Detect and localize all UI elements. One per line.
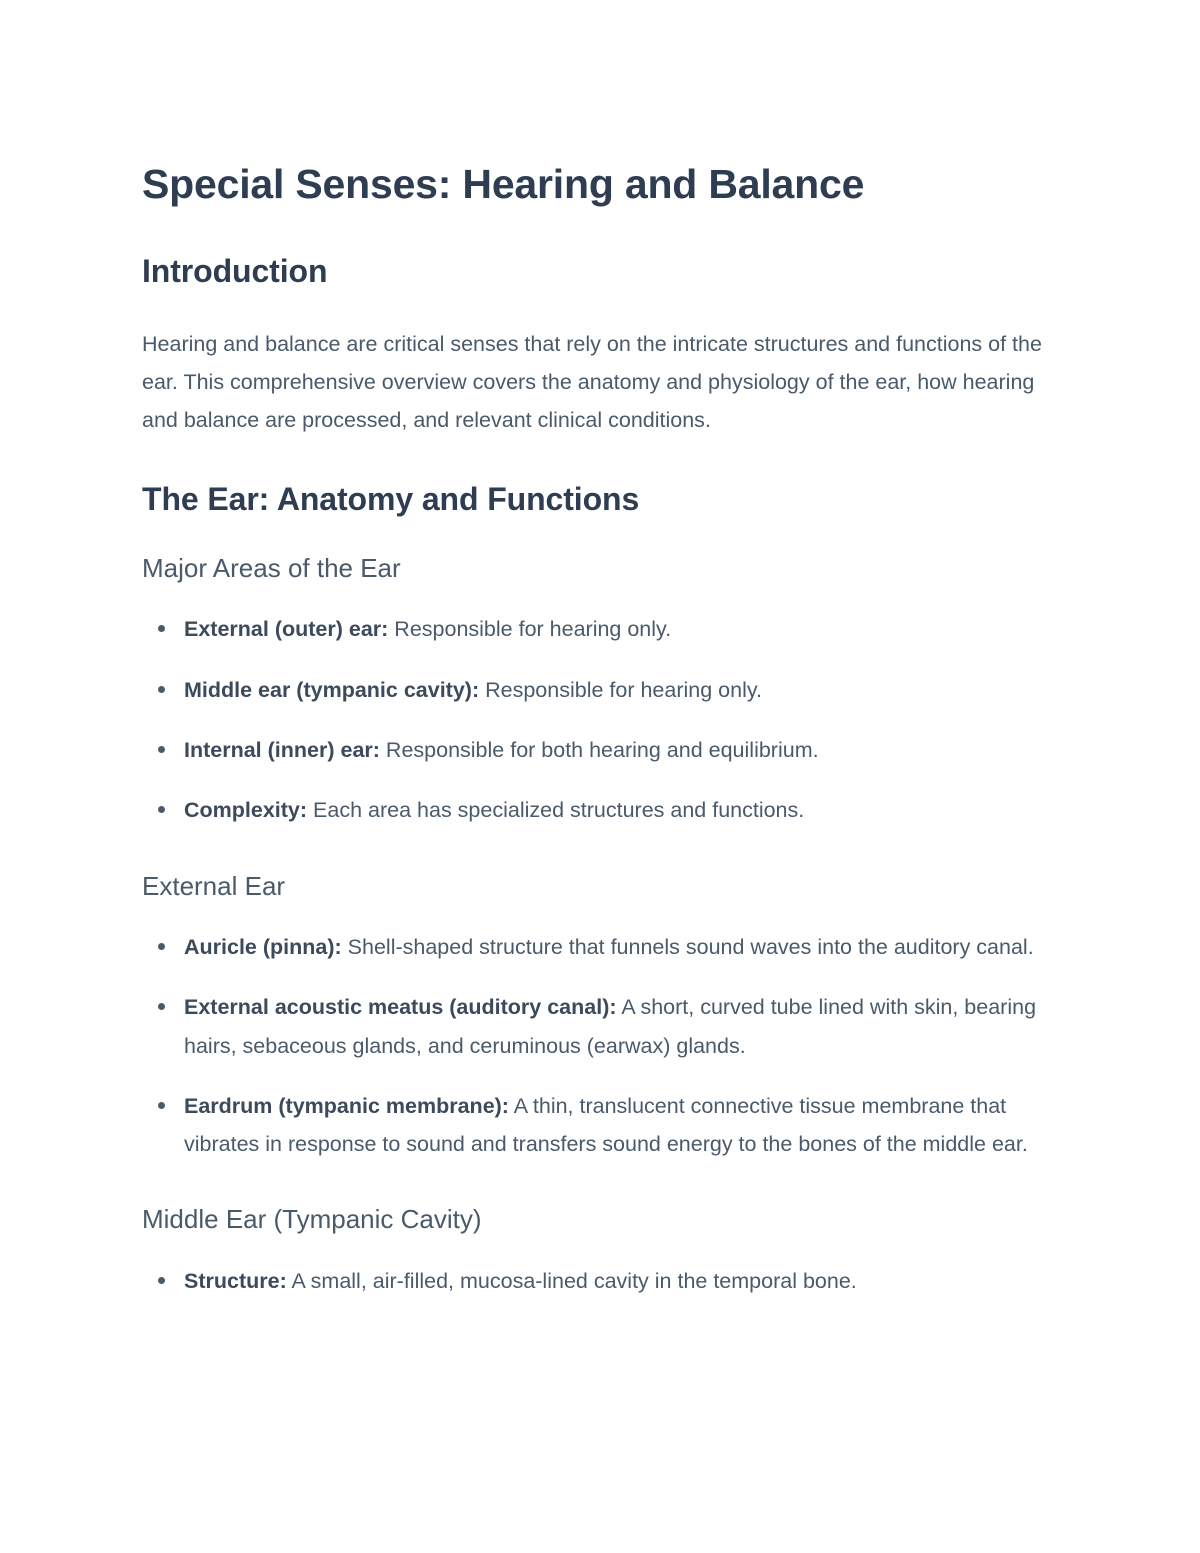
list-item-term: Middle ear (tympanic cavity): bbox=[184, 678, 479, 702]
list-item: Complexity: Each area has specialized st… bbox=[142, 791, 1058, 829]
list-item-term: External acoustic meatus (auditory canal… bbox=[184, 995, 617, 1019]
page-title: Special Senses: Hearing and Balance bbox=[142, 160, 1058, 208]
list-item: Structure: A small, air-filled, mucosa-l… bbox=[142, 1262, 1058, 1300]
list-item: Middle ear (tympanic cavity): Responsibl… bbox=[142, 671, 1058, 709]
external-ear-list: Auricle (pinna): Shell-shaped structure … bbox=[142, 928, 1058, 1163]
bullet-icon bbox=[158, 943, 165, 950]
subsection-heading-external-ear: External Ear bbox=[142, 870, 1058, 903]
list-item-term: Internal (inner) ear: bbox=[184, 738, 380, 762]
list-item-term: External (outer) ear: bbox=[184, 617, 388, 641]
list-item-term: Complexity: bbox=[184, 798, 307, 822]
list-item-term: Eardrum (tympanic membrane): bbox=[184, 1094, 509, 1118]
bullet-icon bbox=[158, 1003, 165, 1010]
bullet-icon bbox=[158, 746, 165, 753]
list-item-text: Responsible for hearing only. bbox=[394, 617, 671, 641]
bullet-icon bbox=[158, 686, 165, 693]
list-item-text: A small, air-filled, mucosa-lined cavity… bbox=[292, 1269, 857, 1293]
list-item-text: Shell-shaped structure that funnels soun… bbox=[348, 935, 1034, 959]
list-item: External acoustic meatus (auditory canal… bbox=[142, 988, 1058, 1065]
list-item: Internal (inner) ear: Responsible for bo… bbox=[142, 731, 1058, 769]
list-item-text: Responsible for both hearing and equilib… bbox=[386, 738, 819, 762]
list-item: Auricle (pinna): Shell-shaped structure … bbox=[142, 928, 1058, 966]
list-item-term: Auricle (pinna): bbox=[184, 935, 342, 959]
bullet-icon bbox=[158, 1102, 165, 1109]
list-item-term: Structure: bbox=[184, 1269, 287, 1293]
subsection-heading-middle-ear: Middle Ear (Tympanic Cavity) bbox=[142, 1203, 1058, 1236]
document-body: Special Senses: Hearing and Balance Intr… bbox=[142, 160, 1058, 1300]
document-page: Special Senses: Hearing and Balance Intr… bbox=[0, 0, 1200, 1553]
list-item: External (outer) ear: Responsible for he… bbox=[142, 610, 1058, 648]
bullet-icon bbox=[158, 625, 165, 632]
major-areas-list: External (outer) ear: Responsible for he… bbox=[142, 610, 1058, 829]
list-item-text: Responsible for hearing only. bbox=[485, 678, 762, 702]
section-heading-ear-anatomy: The Ear: Anatomy and Functions bbox=[142, 480, 1058, 518]
list-item-text: Each area has specialized structures and… bbox=[313, 798, 804, 822]
introduction-paragraph: Hearing and balance are critical senses … bbox=[142, 325, 1058, 440]
subsection-heading-major-areas: Major Areas of the Ear bbox=[142, 552, 1058, 585]
list-item: Eardrum (tympanic membrane): A thin, tra… bbox=[142, 1087, 1058, 1164]
bullet-icon bbox=[158, 1277, 165, 1284]
middle-ear-list: Structure: A small, air-filled, mucosa-l… bbox=[142, 1262, 1058, 1300]
section-heading-introduction: Introduction bbox=[142, 252, 1058, 290]
bullet-icon bbox=[158, 806, 165, 813]
